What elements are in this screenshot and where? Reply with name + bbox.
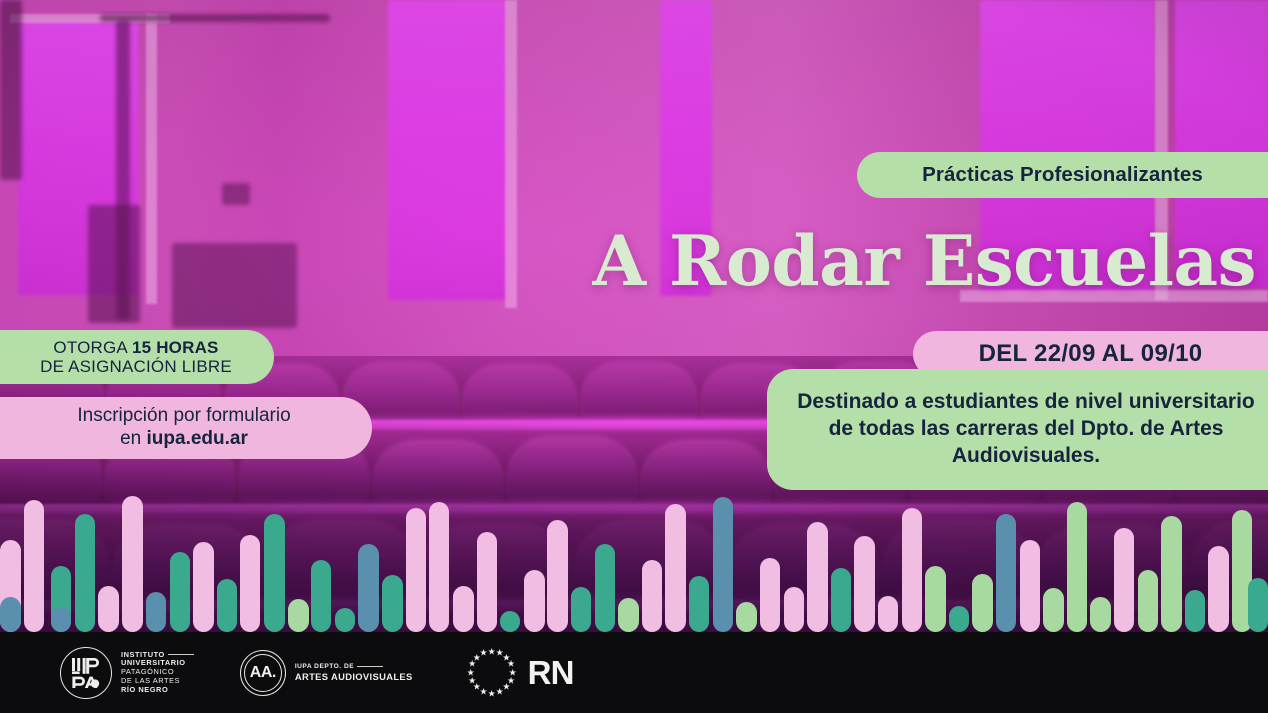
hours-badge: OTORGA 15 HORAS DE ASIGNACIÓN LIBRE bbox=[0, 330, 274, 384]
registration-badge-prefix: en bbox=[120, 428, 146, 449]
poster: Prácticas Profesionalizantes A Rodar Esc… bbox=[0, 0, 1268, 713]
decor-bar bbox=[736, 602, 757, 632]
decor-bar bbox=[453, 586, 474, 632]
decor-bar bbox=[75, 514, 95, 632]
iupa-wordmark: INSTITUTO UNIVERSITARIO PATAGÓNICO DE LA… bbox=[121, 651, 194, 695]
decor-bar bbox=[689, 576, 709, 632]
iupa-rule bbox=[168, 654, 194, 655]
decor-bar bbox=[642, 560, 662, 632]
decor-bar bbox=[902, 508, 922, 632]
decor-bar bbox=[358, 544, 379, 632]
iupa-emblem-ring bbox=[60, 647, 112, 699]
audience-panel-text: Destinado a estudiantes de nivel univers… bbox=[793, 389, 1259, 470]
decor-bar bbox=[784, 587, 804, 632]
iupa-logo: INSTITUTO UNIVERSITARIO PATAGÓNICO DE LA… bbox=[60, 647, 194, 699]
audience-panel: Destinado a estudiantes de nivel univers… bbox=[767, 369, 1268, 490]
aa-emblem-ring: AA. bbox=[240, 650, 286, 696]
decor-bar bbox=[382, 575, 403, 632]
decor-bar bbox=[949, 606, 969, 632]
decorative-bar-band bbox=[0, 495, 1268, 632]
decor-bar bbox=[1248, 578, 1268, 632]
iupa-monogram-icon bbox=[70, 656, 102, 690]
decor-bar bbox=[1185, 590, 1205, 632]
decor-bar bbox=[878, 596, 898, 632]
aa-line-1: IUPA DEPTO. DE bbox=[295, 663, 413, 671]
rn-wordmark: RN bbox=[528, 654, 574, 692]
decor-bar bbox=[1020, 540, 1040, 632]
hours-badge-line1: OTORGA 15 HORAS bbox=[53, 338, 218, 357]
registration-badge-line1: Inscripción por formulario bbox=[77, 405, 290, 428]
decor-bar bbox=[1043, 588, 1064, 632]
footer-logo-bar: INSTITUTO UNIVERSITARIO PATAGÓNICO DE LA… bbox=[0, 632, 1268, 713]
decor-bar bbox=[760, 558, 780, 632]
decor-bar bbox=[1067, 502, 1087, 632]
iupa-line-5: RÍO NEGRO bbox=[121, 686, 194, 695]
star-circle-icon: ★★★★★★★★★★★★★★★★ bbox=[467, 648, 517, 698]
decor-bar bbox=[595, 544, 615, 632]
eyebrow-pill: Prácticas Profesionalizantes bbox=[857, 152, 1268, 198]
aa-line-2: ARTES AUDIOVISUALES bbox=[295, 671, 413, 682]
registration-url[interactable]: iupa.edu.ar bbox=[147, 428, 248, 449]
decor-bar bbox=[925, 566, 946, 632]
decor-bar bbox=[0, 597, 21, 632]
decor-bar bbox=[524, 570, 545, 632]
decor-bar bbox=[1138, 570, 1158, 632]
decor-bar bbox=[547, 520, 568, 632]
decor-bar bbox=[429, 502, 449, 632]
aa-rule bbox=[357, 666, 383, 667]
decor-bar bbox=[122, 496, 143, 632]
decor-bar bbox=[217, 579, 237, 632]
dates-badge-label: DEL 22/09 AL 09/10 bbox=[979, 340, 1203, 368]
decor-bar bbox=[1114, 528, 1134, 632]
decor-bar bbox=[854, 536, 875, 632]
decor-bar bbox=[713, 497, 733, 632]
registration-badge-line2: en iupa.edu.ar bbox=[120, 428, 248, 451]
aa-line-1-text: IUPA DEPTO. DE bbox=[295, 663, 354, 670]
hours-badge-prefix: OTORGA bbox=[53, 338, 132, 357]
decor-bar bbox=[240, 535, 260, 632]
decor-bar bbox=[1090, 597, 1111, 632]
eyebrow-pill-label: Prácticas Profesionalizantes bbox=[922, 163, 1203, 187]
decor-bar bbox=[665, 504, 686, 632]
decor-bar bbox=[193, 542, 214, 632]
decor-bar bbox=[618, 598, 639, 632]
decor-bar bbox=[477, 532, 497, 632]
decor-bar bbox=[311, 560, 331, 632]
decor-bar bbox=[996, 514, 1016, 632]
aa-wordmark: IUPA DEPTO. DE ARTES AUDIOVISUALES bbox=[295, 663, 413, 682]
decor-bar bbox=[1161, 516, 1182, 632]
decor-bar bbox=[972, 574, 993, 632]
artes-audiovisuales-logo: AA. IUPA DEPTO. DE ARTES AUDIOVISUALES bbox=[240, 650, 413, 696]
decor-bar bbox=[571, 587, 591, 632]
decor-bar bbox=[98, 586, 119, 632]
decor-bar bbox=[1208, 546, 1229, 632]
iupa-line-1-text: INSTITUTO bbox=[121, 650, 165, 659]
decor-bar bbox=[264, 514, 285, 632]
decor-bar bbox=[406, 508, 426, 632]
registration-badge[interactable]: Inscripción por formulario en iupa.edu.a… bbox=[0, 397, 372, 459]
aa-emblem-inner: AA. bbox=[244, 654, 282, 692]
decor-bar bbox=[831, 568, 851, 632]
decor-bar bbox=[500, 611, 520, 632]
decor-bar bbox=[335, 608, 355, 632]
decor-bar bbox=[146, 592, 166, 632]
page-title: A Rodar Escuelas bbox=[566, 222, 1256, 300]
decor-bar bbox=[170, 552, 190, 632]
decor-bar bbox=[807, 522, 828, 632]
decor-bar bbox=[288, 599, 309, 632]
decor-bar bbox=[24, 500, 44, 632]
decor-bar bbox=[51, 607, 71, 632]
rio-negro-logo: ★★★★★★★★★★★★★★★★ RN bbox=[467, 648, 574, 698]
hours-badge-value: 15 HORAS bbox=[132, 338, 219, 357]
aa-monogram-icon: AA. bbox=[250, 664, 276, 682]
hours-badge-line2: DE ASIGNACIÓN LIBRE bbox=[40, 357, 232, 376]
